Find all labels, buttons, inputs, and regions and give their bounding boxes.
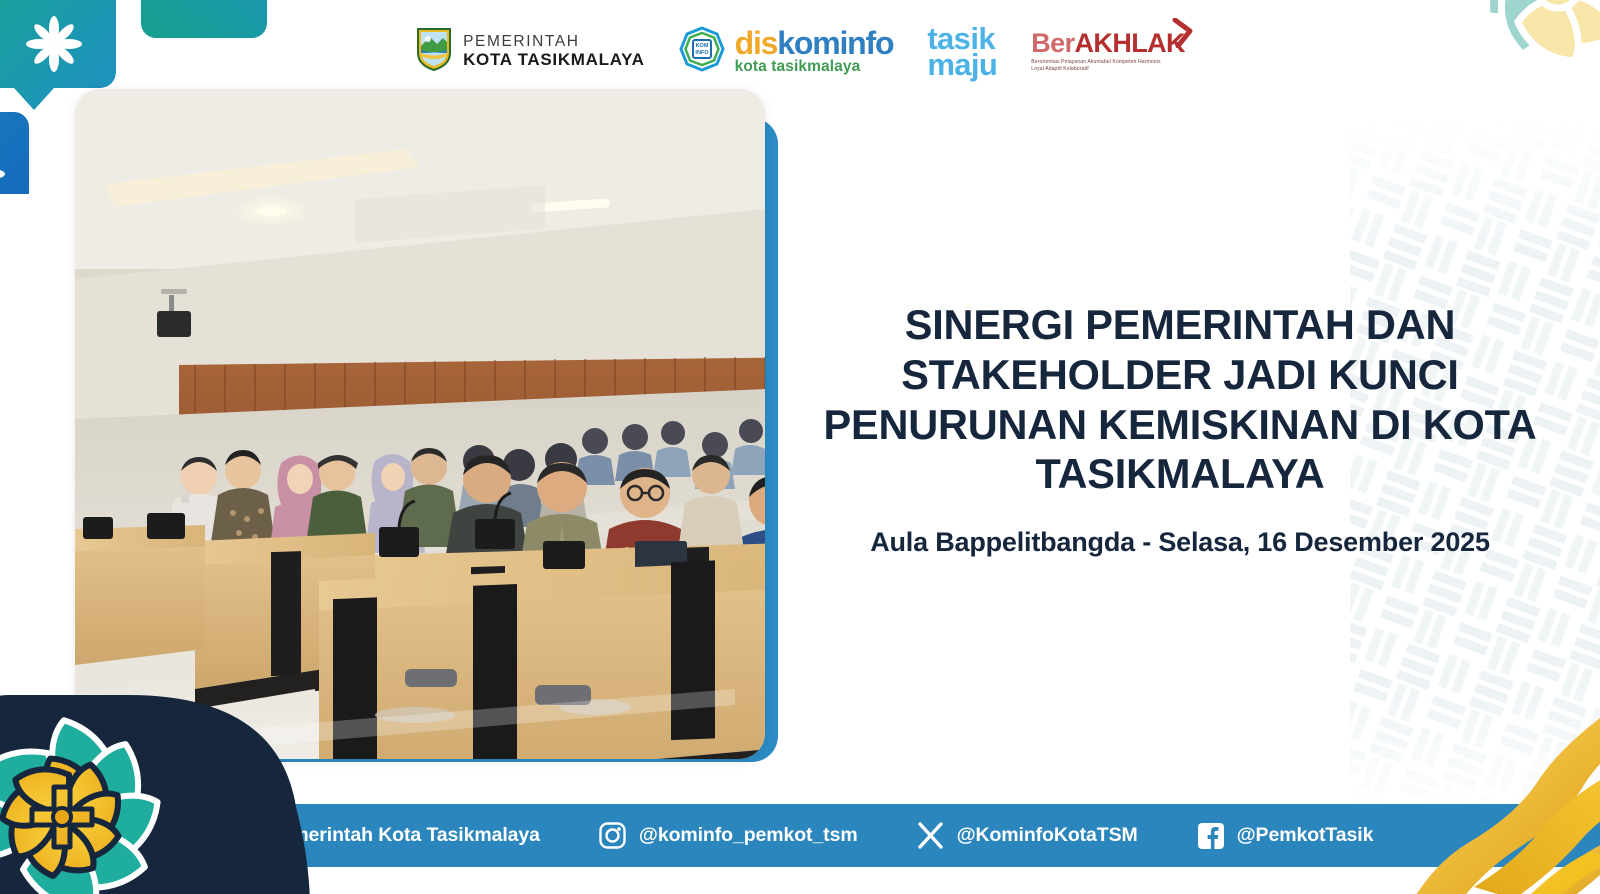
logo-pemerintah-line2: KOTA TASIKMALAYA (463, 51, 645, 69)
x-twitter-icon (916, 821, 946, 851)
berakhlak-main: AKHLAK (1075, 28, 1185, 58)
event-subtitle: Aula Bappelitbangda - Selasa, 16 Desembe… (800, 527, 1560, 558)
kota-tasikmalaya-crest-icon (415, 26, 453, 77)
social-instagram[interactable]: @kominfo_pemkot_tsm (598, 821, 858, 851)
diskominfo-word-dis: dis (735, 25, 778, 61)
diskominfo-mark-icon: KOM INFO (679, 26, 725, 77)
instagram-icon (598, 821, 628, 851)
youtube-icon (227, 821, 257, 851)
tasikmaju-line2: maju (927, 52, 997, 77)
logo-bar: PEMERINTAH KOTA TASIKMALAYA KOM INFO dis… (0, 26, 1600, 77)
logo-diskominfo: KOM INFO diskominfo kota tasikmalaya (679, 26, 894, 77)
social-youtube[interactable]: Pemerintah Kota Tasikmalaya (227, 821, 540, 851)
social-facebook[interactable]: @PemkotTasik (1196, 821, 1374, 851)
logo-berakhlak: BerAKHLAK Berorientasi Pelayanan Akuntab… (1031, 30, 1185, 74)
social-facebook-handle: @PemkotTasik (1237, 824, 1374, 847)
logo-pemerintah-line1: PEMERINTAH (463, 34, 645, 51)
social-instagram-handle: @kominfo_pemkot_tsm (639, 824, 858, 847)
berakhlak-tagline: Berorientasi Pelayanan Akuntabel Kompete… (1031, 59, 1163, 74)
svg-text:INFO: INFO (695, 50, 709, 56)
logo-tasik-maju: tasik maju (927, 26, 997, 77)
social-youtube-handle: Pemerintah Kota Tasikmalaya (268, 824, 540, 847)
facebook-icon (1196, 821, 1226, 851)
logo-pemerintah-kota-tasikmalaya: PEMERINTAH KOTA TASIKMALAYA (415, 26, 645, 77)
social-x-handle: @KominfoKotaTSM (957, 824, 1138, 847)
berakhlak-chevron-icon (1172, 18, 1194, 53)
title-block: SINERGI PEMERINTAH DAN STAKEHOLDER JADI … (800, 300, 1560, 558)
diskominfo-subtitle: kota tasikmalaya (735, 60, 894, 75)
event-photo (75, 89, 765, 759)
social-x-twitter[interactable]: @KominfoKotaTSM (916, 821, 1138, 851)
footer-white-strip (0, 867, 1600, 894)
svg-text:KOM: KOM (695, 43, 708, 49)
berakhlak-prefix: Ber (1031, 28, 1074, 58)
page-title: SINERGI PEMERINTAH DAN STAKEHOLDER JADI … (800, 300, 1560, 499)
diskominfo-word-kominf: kominf (777, 25, 875, 61)
poster-canvas: PEMERINTAH KOTA TASIKMALAYA KOM INFO dis… (0, 0, 1600, 894)
footer-social-bar: Pemerintah Kota Tasikmalaya @kominfo_pem… (0, 804, 1600, 867)
diskominfo-word-o: o (875, 25, 893, 61)
